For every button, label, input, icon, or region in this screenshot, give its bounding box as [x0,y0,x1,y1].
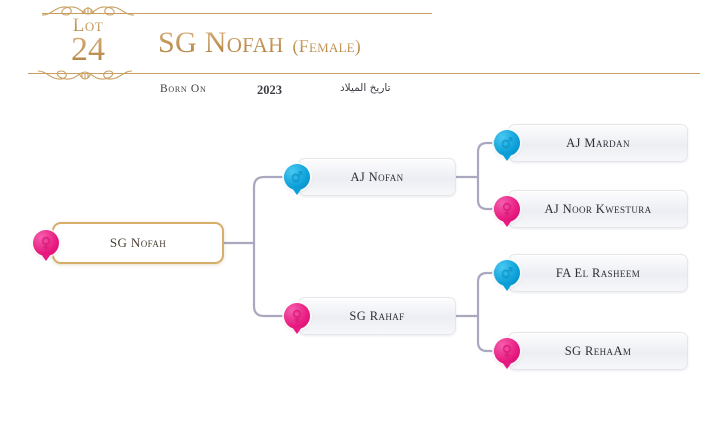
pedigree-node-gen1-sire[interactable]: AJ Nofan [298,158,456,196]
pedigree-node-label: SG Nofah [100,235,176,251]
animal-name: SG Nofah [158,26,284,60]
pedigree-node-gen2-3[interactable]: FA El Rasheem [508,254,688,292]
born-on-label-arabic: تاريخ الميلاد [340,82,391,94]
venus-glyph: ♀ [41,236,51,250]
gender-pin-female-icon: ♀ [284,303,310,329]
page-title: SG Nofah (Female) [158,26,361,60]
pedigree-node-label: AJ Nofan [340,170,413,185]
animal-sex: (Female) [293,36,361,57]
pedigree-node-label: SG Rahaf [339,309,414,324]
pedigree-node-label: AJ Noor Kwestura [534,202,661,217]
gender-pin-male-icon: ♂ [284,164,310,190]
gender-pin-female-icon: ♀ [33,230,59,256]
pedigree-node-gen2-4[interactable]: SG RehaAm [508,332,688,370]
born-on-row: Born On 2023 تاريخ الميلاد [160,83,460,101]
pedigree-node-gen2-2[interactable]: AJ Noor Kwestura [508,190,688,228]
pedigree-node-gen2-1[interactable]: AJ Mardan [508,124,688,162]
gender-pin-female-icon: ♀ [494,338,520,364]
header-bottom-rule [28,73,700,74]
born-on-year: 2023 [257,83,282,98]
connector-root-to-dam [254,243,291,316]
mars-glyph: ♂ [501,266,514,280]
born-on-label: Born On [160,83,206,95]
gender-pin-male-icon: ♂ [494,130,520,156]
ornament-flourish-bottom [35,66,135,84]
lot-number: 24 [38,33,138,67]
venus-glyph: ♀ [292,309,302,323]
pedigree-node-label: AJ Mardan [556,136,640,151]
pedigree-tree: SG Nofah ♀ AJ Nofan ♂ SG Rahaf ♀ AJ Mard… [0,110,714,433]
venus-glyph: ♀ [502,202,512,216]
mars-glyph: ♂ [501,136,514,150]
pedigree-page: Lot 24 SG Nofah (Female) Born On 2023 تا… [0,0,714,433]
mars-glyph: ♂ [291,170,304,184]
connector-root-to-sire [254,177,291,243]
pedigree-node-root[interactable]: SG Nofah [52,222,224,264]
lot-badge: Lot 24 [38,16,138,67]
header: Lot 24 SG Nofah (Female) Born On 2023 تا… [0,0,714,110]
pedigree-node-gen1-dam[interactable]: SG Rahaf [298,297,456,335]
gender-pin-female-icon: ♀ [494,196,520,222]
venus-glyph: ♀ [502,344,512,358]
pedigree-node-label: FA El Rasheem [546,266,650,281]
gender-pin-male-icon: ♂ [494,260,520,286]
pedigree-node-label: SG RehaAm [555,344,642,359]
